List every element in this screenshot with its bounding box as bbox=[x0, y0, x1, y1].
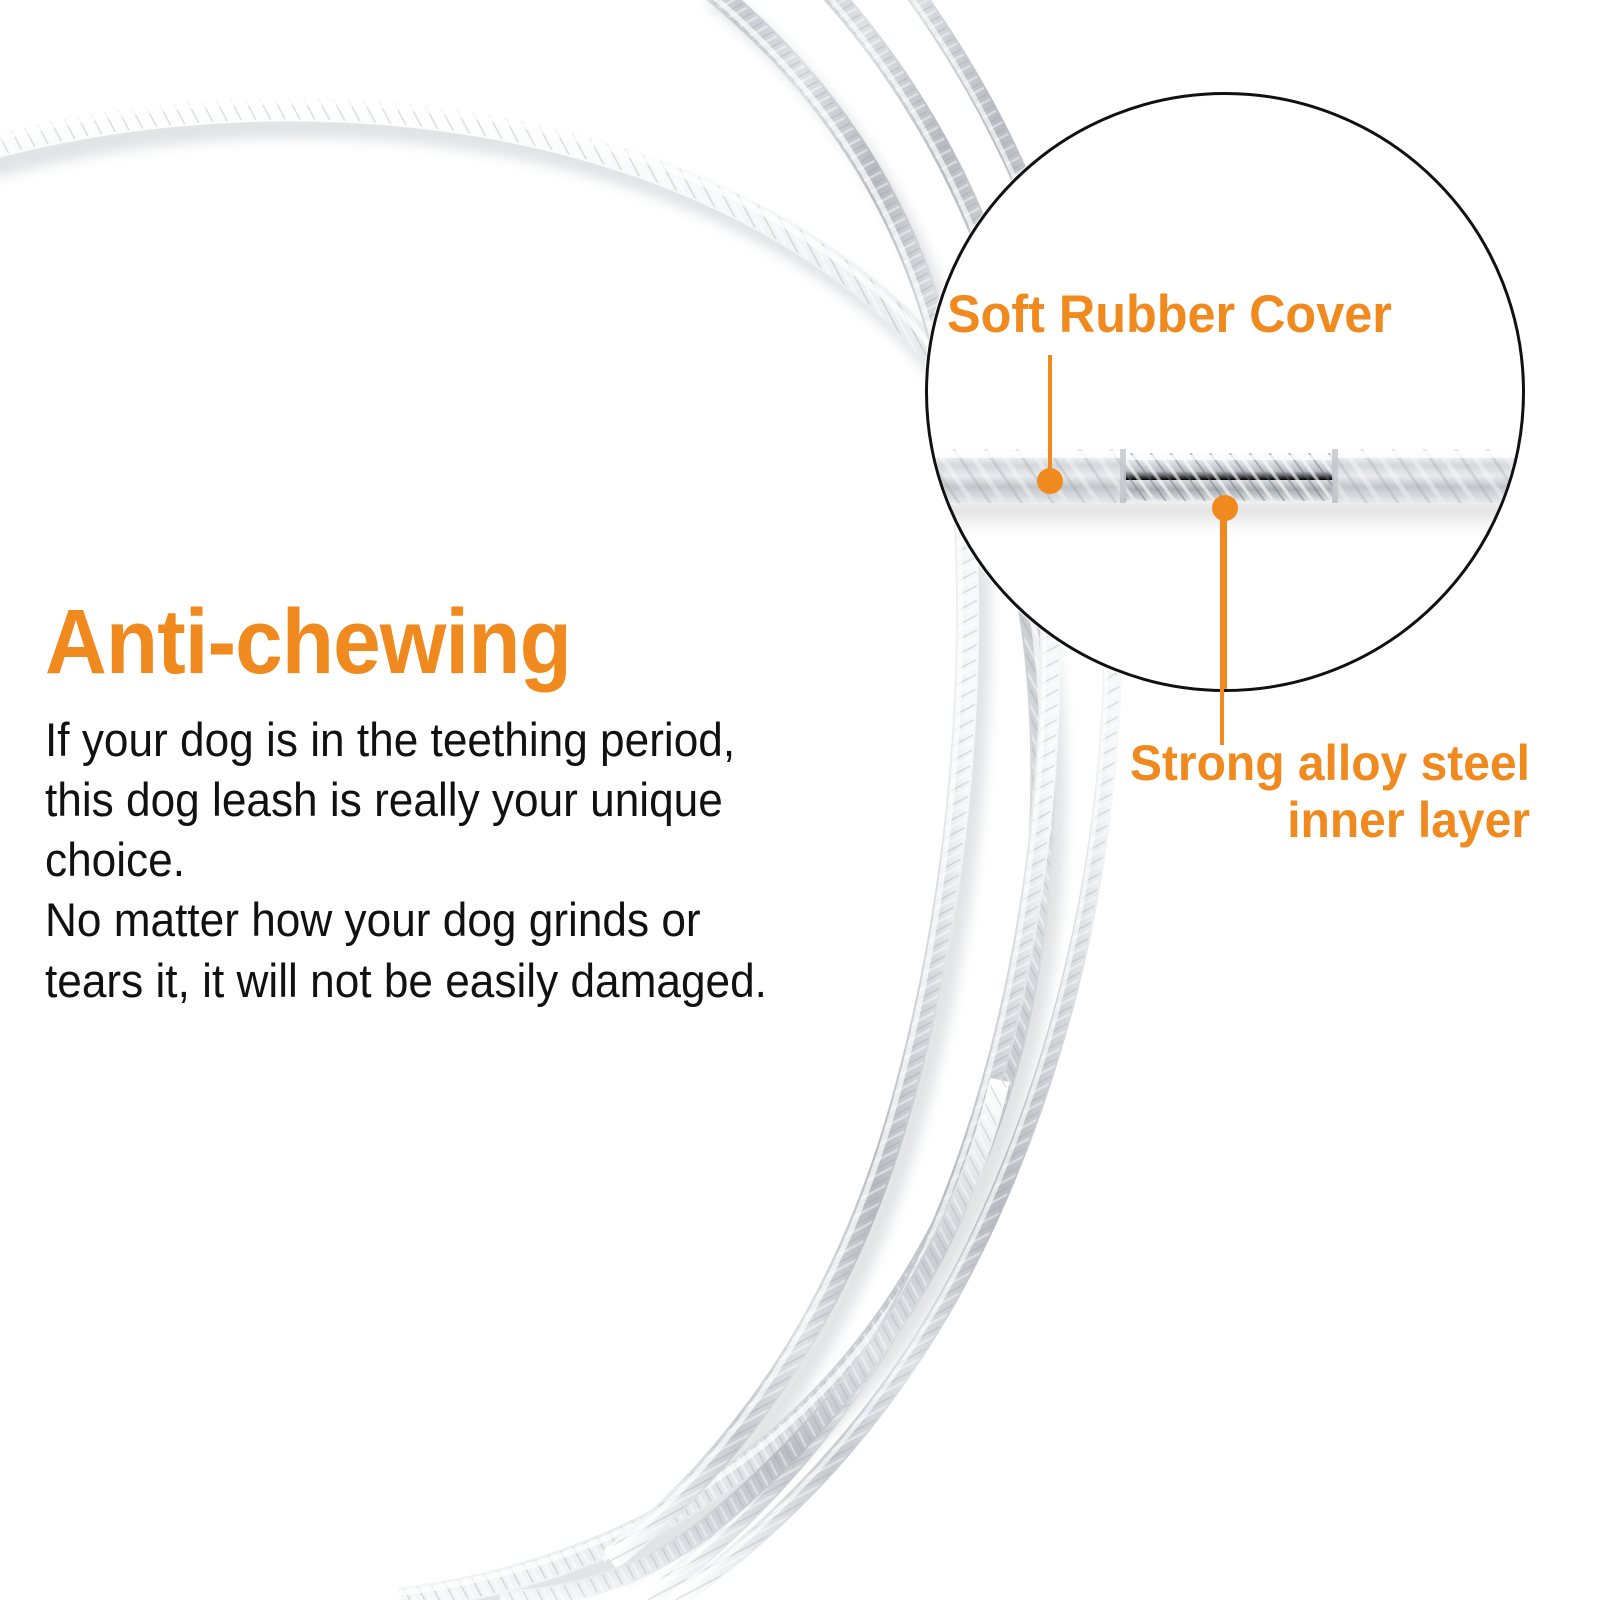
feature-line-1: If your dog is in the teething period, bbox=[45, 710, 853, 770]
magnifier-outline: Soft Rubber Cover bbox=[925, 92, 1525, 692]
detail-zoom-circle: Soft Rubber Cover bbox=[925, 92, 1525, 692]
feature-line-5: tears it, it will not be easily damaged. bbox=[45, 951, 853, 1011]
page-title: Anti-chewing bbox=[45, 596, 845, 688]
callout-label-alloy-steel-line-1: Strong alloy steel bbox=[1067, 735, 1530, 792]
feature-text-block: Anti-chewing If your dog is in the teeth… bbox=[45, 596, 905, 1011]
feature-line-3: choice. bbox=[45, 830, 853, 890]
feature-description: If your dog is in the teething period, t… bbox=[45, 710, 853, 1011]
feature-line-4: No matter how your dog grinds or bbox=[45, 890, 853, 950]
product-feature-image: Anti-chewing If your dog is in the teeth… bbox=[0, 0, 1600, 1600]
callout-label-alloy-steel-line-2: inner layer bbox=[1067, 792, 1530, 849]
leader-line-alloy-steel-inner-lower bbox=[1220, 500, 1224, 745]
feature-line-2: this dog leash is really your unique bbox=[45, 770, 853, 830]
leader-line-soft-rubber-cover bbox=[1048, 355, 1052, 483]
leader-dot-soft-rubber-cover bbox=[1037, 468, 1063, 494]
callout-label-alloy-steel-inner-layer: Strong alloy steel inner layer bbox=[1067, 735, 1530, 848]
callout-label-soft-rubber-cover: Soft Rubber Cover bbox=[947, 284, 1392, 345]
